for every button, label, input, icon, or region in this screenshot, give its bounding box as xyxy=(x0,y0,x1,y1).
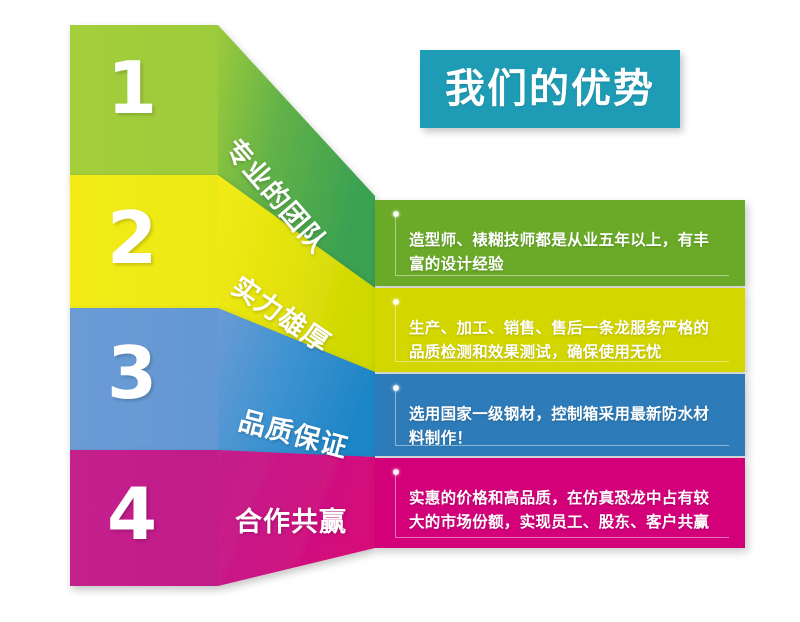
infographic-canvas: 1 2 3 4 专业的团队 实力雄厚 品质保证 合作共赢 造型师、裱糊技师都是从… xyxy=(0,0,800,622)
content-frame-3: 选用国家一级钢材，控制箱采用最新防水材料制作！ xyxy=(395,388,729,446)
bullet-dot-icon xyxy=(393,385,399,391)
title-banner: 我们的优势 xyxy=(420,50,680,128)
step-number-1: 1 xyxy=(107,52,157,124)
bullet-dot-icon xyxy=(393,211,399,217)
content-box-3: 选用国家一级钢材，控制箱采用最新防水材料制作！ xyxy=(375,374,745,456)
ribbon-label-4: 合作共赢 xyxy=(235,500,347,539)
content-box-4: 实惠的价格和高品质，在仿真恐龙中占有较大的市场份额，实现员工、股东、客户共赢 xyxy=(375,458,745,548)
content-box-2: 生产、加工、销售、售后一条龙服务严格的品质检测和效果测试，确保使用无忧 xyxy=(375,288,745,372)
content-box-1: 造型师、裱糊技师都是从业五年以上，有丰富的设计经验 xyxy=(375,200,745,286)
step-number-4: 4 xyxy=(107,478,157,550)
content-frame-2: 生产、加工、销售、售后一条龙服务严格的品质检测和效果测试，确保使用无忧 xyxy=(395,302,729,362)
content-text-1: 造型师、裱糊技师都是从业五年以上，有丰富的设计经验 xyxy=(409,228,723,276)
content-text-4: 实惠的价格和高品质，在仿真恐龙中占有较大的市场份额，实现员工、股东、客户共赢 xyxy=(409,486,723,534)
bullet-dot-icon xyxy=(393,299,399,305)
content-text-3: 选用国家一级钢材，控制箱采用最新防水材料制作！ xyxy=(409,402,723,450)
page-title: 我们的优势 xyxy=(445,69,655,109)
step-number-3: 3 xyxy=(107,337,157,409)
step-number-2: 2 xyxy=(107,202,157,274)
content-frame-1: 造型师、裱糊技师都是从业五年以上，有丰富的设计经验 xyxy=(395,214,729,276)
content-frame-4: 实惠的价格和高品质，在仿真恐龙中占有较大的市场份额，实现员工、股东、客户共赢 xyxy=(395,472,729,538)
content-text-2: 生产、加工、销售、售后一条龙服务严格的品质检测和效果测试，确保使用无忧 xyxy=(409,316,723,364)
bullet-dot-icon xyxy=(393,469,399,475)
